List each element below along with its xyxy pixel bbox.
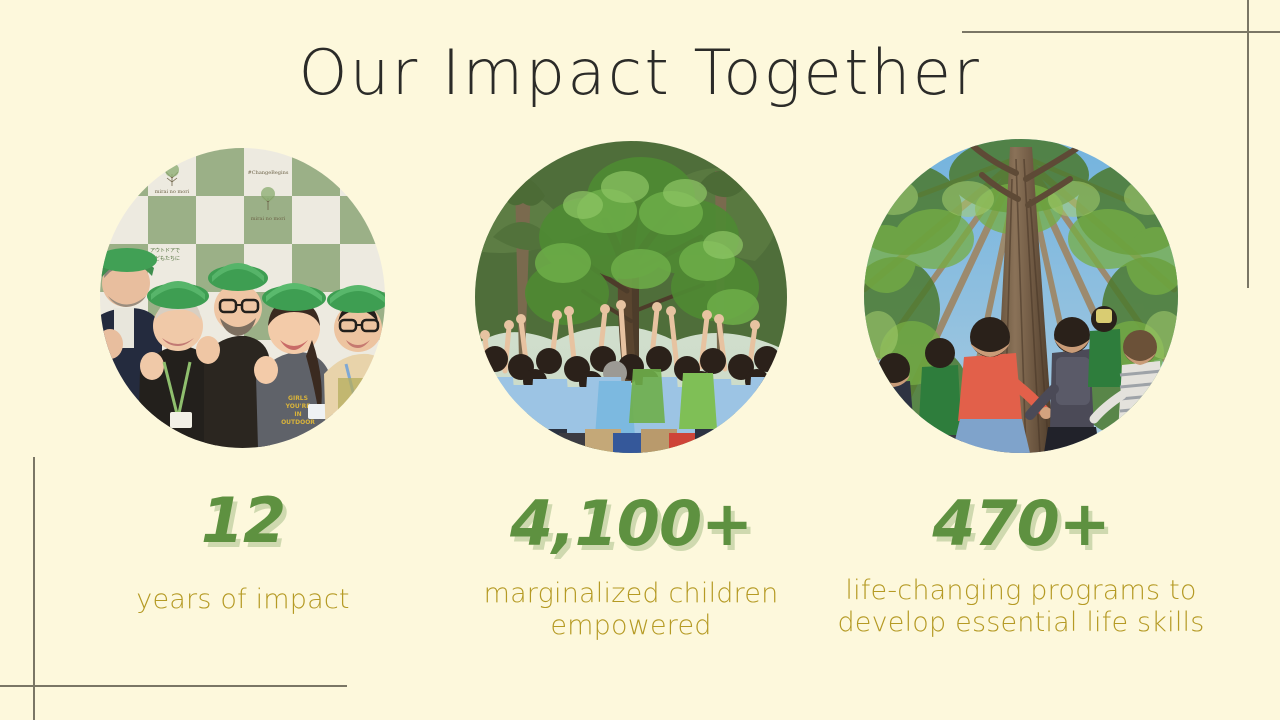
photo-children-hugging-tree	[864, 139, 1178, 453]
slide-canvas: Our Impact Together	[0, 0, 1280, 720]
svg-text:OUTDOOR: OUTDOOR	[281, 419, 315, 426]
svg-text:アウトドアで: アウトドアで	[150, 247, 180, 254]
stat-number: 470+	[831, 493, 1211, 555]
svg-text:mirai no mori: mirai no mori	[251, 216, 286, 222]
stat-block-life-changing-programs: 470+ life-changing programs to develop e…	[831, 139, 1211, 639]
photo-frame	[864, 139, 1178, 453]
stat-caption: marginalized children empowered	[441, 578, 821, 642]
stat-caption: life-changing programs to develop essent…	[831, 575, 1211, 639]
photo-team-green-hats: mirai no mori #ChangeBegins #mirainomori…	[100, 148, 385, 448]
svg-text:IN: IN	[294, 411, 301, 418]
svg-text:#mirainomori: #mirainomori	[346, 170, 382, 176]
photo-frame	[475, 141, 787, 453]
svg-text:mirai no mori: mirai no mori	[155, 189, 190, 195]
stat-number: 12	[33, 490, 453, 552]
svg-text:#mirainomori: #mirainomori	[107, 170, 143, 176]
page-title: Our Impact Together	[0, 36, 1280, 109]
stat-caption: years of impact	[33, 584, 453, 616]
stat-block-years-of-impact: mirai no mori #ChangeBegins #mirainomori…	[33, 148, 453, 616]
stat-block-children-empowered: 4,100+ marginalized children empowered	[441, 141, 821, 642]
corner-rule-top-right-horizontal	[962, 31, 1280, 33]
svg-text:#ChangeBegins: #ChangeBegins	[248, 170, 289, 176]
svg-text:GIRLS: GIRLS	[288, 395, 308, 402]
stat-number: 4,100+	[441, 493, 821, 555]
corner-rule-bottom-left-horizontal	[0, 685, 347, 687]
photo-children-raising-hands	[475, 141, 787, 453]
svg-text:YOU'RE: YOU'RE	[285, 403, 311, 410]
photo-frame: mirai no mori #ChangeBegins #mirainomori…	[100, 148, 385, 448]
